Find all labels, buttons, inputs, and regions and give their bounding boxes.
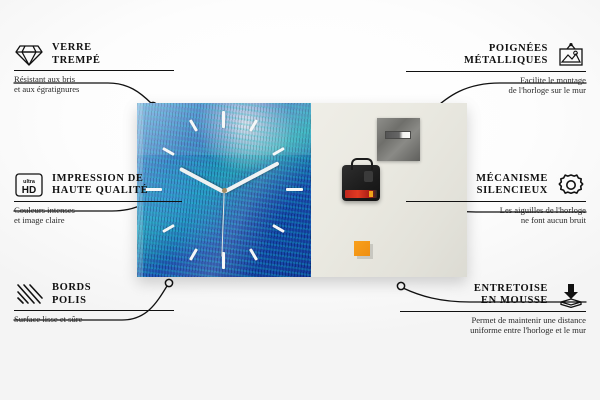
- callout-desc-line1: Facilite le montage: [406, 75, 586, 85]
- foam-spacer: [354, 241, 370, 256]
- clock-hand-second: [221, 191, 225, 257]
- callout-desc-line1: Résistant aux bris: [14, 74, 194, 84]
- callout-title-line1: IMPRESSION DE: [52, 173, 148, 186]
- callout-desc-line1: Couleurs intenses: [14, 205, 204, 215]
- hour-marker: [249, 119, 258, 132]
- hour-marker: [222, 252, 225, 269]
- callout-rule: [406, 71, 586, 72]
- callout-title-line2: EN MOUSSE: [474, 295, 548, 308]
- hour-marker: [272, 147, 285, 156]
- callout-title-line2: HAUTE QUALITÉ: [52, 185, 148, 198]
- hour-marker: [222, 111, 225, 128]
- silent-mechanism-box: [342, 165, 380, 201]
- hanger-slot: [385, 131, 411, 139]
- callout-rule: [400, 311, 586, 312]
- callout-title-line1: VERRE: [52, 42, 101, 55]
- gear-icon: [556, 172, 586, 198]
- metal-hanger-plate: [377, 118, 420, 161]
- callout-verre-trempe: VERRE TREMPÉ Résistant aux bris et aux é…: [14, 42, 194, 95]
- callout-desc-line2: et aux égratignures: [14, 84, 194, 94]
- callout-title-line1: MÉCANISME: [476, 173, 548, 186]
- callout-poignees-metalliques: POIGNÉES MÉTALLIQUES Facilite le montage…: [406, 42, 586, 96]
- hour-marker: [162, 147, 175, 156]
- callout-title-line2: POLIS: [52, 295, 91, 308]
- hour-marker: [249, 248, 258, 261]
- callout-bords-polis: BORDS POLIS Surface lisse et sûre: [14, 282, 194, 324]
- callout-title-line2: TREMPÉ: [52, 55, 101, 68]
- callout-entretoise-en-mousse: ENTRETOISE EN MOUSSE Permet de maintenir…: [400, 282, 586, 336]
- callout-desc-line1: Surface lisse et sûre: [14, 314, 194, 324]
- callout-rule: [14, 70, 174, 71]
- hour-marker: [189, 119, 198, 132]
- foam-spacer-icon: [556, 282, 586, 308]
- hour-marker: [286, 188, 303, 191]
- polished-edges-icon: [14, 283, 44, 307]
- callout-title-line2: MÉTALLIQUES: [464, 55, 548, 68]
- mechanism-dial: [364, 171, 373, 182]
- callout-title-line1: POIGNÉES: [464, 43, 548, 56]
- clock-hand-minute: [223, 161, 280, 194]
- callout-desc-line2: de l'horloge sur le mur: [406, 85, 586, 95]
- callout-rule: [14, 310, 174, 311]
- callout-rule: [14, 201, 182, 202]
- callout-desc-line2: ne font aucun bruit: [406, 215, 586, 225]
- callout-title-line2: SILENCIEUX: [476, 185, 548, 198]
- callout-desc-line2: uniforme entre l'horloge et le mur: [400, 325, 586, 335]
- picture-hanger-icon: [556, 42, 586, 68]
- clock-center-cap: [222, 188, 227, 193]
- hour-marker: [272, 224, 285, 233]
- mechanism-hanger-loop: [351, 158, 373, 170]
- callout-mecanisme-silencieux: MÉCANISME SILENCIEUX Les aiguilles de l'…: [406, 172, 586, 226]
- battery: [345, 190, 377, 198]
- callout-desc-line1: Les aiguilles de l'horloge: [406, 205, 586, 215]
- ultra-hd-icon-main-label: HD: [22, 185, 36, 196]
- callout-rule: [406, 201, 586, 202]
- diamond-icon: [14, 43, 44, 67]
- callout-impression-hd: ultra HD IMPRESSION DE HAUTE QUALITÉ Cou…: [14, 172, 204, 226]
- callout-desc-line1: Permet de maintenir une distance: [400, 315, 586, 325]
- hour-marker: [189, 248, 198, 261]
- infographic-canvas: VERRE TREMPÉ Résistant aux bris et aux é…: [0, 0, 600, 400]
- callout-title-line1: ENTRETOISE: [474, 283, 548, 296]
- callout-title-line1: BORDS: [52, 282, 91, 295]
- ultra-hd-icon: ultra HD: [14, 172, 44, 198]
- callout-desc-line2: et image claire: [14, 215, 204, 225]
